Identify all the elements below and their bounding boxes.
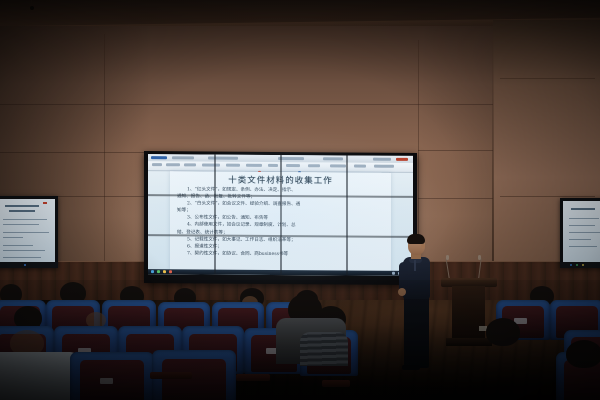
panel-seam [214, 155, 216, 275]
presenter-hair [407, 234, 425, 244]
lcd-video-wall[interactable]: 十类文件材料的收集工作 1、“红头文件”，如规定、条例、办法、决定、指示、 通知… [144, 151, 417, 285]
status-led-icon [582, 264, 584, 266]
ceiling-fixture-icon [30, 6, 34, 10]
attendee-white-shirt [0, 352, 80, 400]
wall-panel-seam [418, 40, 419, 262]
seat[interactable] [70, 352, 154, 400]
presenter-shoes [402, 365, 420, 370]
presenter [396, 232, 440, 372]
wall-panel-seam [500, 78, 595, 79]
status-led-icon [576, 264, 578, 266]
attendee-striped-shirt [300, 332, 348, 366]
power-led-icon [24, 264, 26, 266]
seat-armrest [150, 372, 192, 379]
taskbar-icon[interactable] [163, 270, 166, 273]
presenter-legs [404, 296, 429, 368]
side-monitor-right-bezel [560, 262, 600, 268]
attendee-head [566, 340, 600, 368]
video-wall-screen: 十类文件材料的收集工作 1、“红头文件”，如规定、条例、办法、决定、指示、 通知… [148, 154, 413, 276]
lectern-body [452, 286, 485, 342]
conference-hall-photo: 十类文件材料的收集工作 1、“红头文件”，如规定、条例、办法、决定、指示、 通知… [0, 0, 600, 400]
taskbar-icon[interactable] [151, 270, 154, 273]
side-monitor-left-bezel [0, 262, 58, 268]
seat-armrest [322, 380, 350, 387]
side-monitor-right[interactable] [560, 198, 600, 268]
taskbar-icon[interactable] [169, 270, 172, 273]
panel-seam [280, 155, 282, 275]
seat-number-label [100, 378, 113, 384]
side-monitor-right-screen [563, 201, 600, 262]
taskbar-icon[interactable] [392, 272, 395, 275]
lectern-base [446, 338, 492, 346]
taskbar-icon[interactable] [157, 270, 160, 273]
panel-seam [346, 155, 348, 275]
wall-corner [492, 26, 494, 276]
side-monitor-left-screen [0, 199, 55, 262]
attendee-head [486, 318, 520, 346]
presenter-hand [398, 288, 406, 296]
power-led-icon [570, 264, 572, 266]
seat-back [162, 359, 226, 400]
seat-armrest [236, 374, 270, 381]
side-monitor-left[interactable] [0, 196, 58, 268]
presenter-ear [421, 244, 425, 249]
presenter-placket [414, 260, 416, 271]
wall-panel-seam [500, 196, 595, 197]
